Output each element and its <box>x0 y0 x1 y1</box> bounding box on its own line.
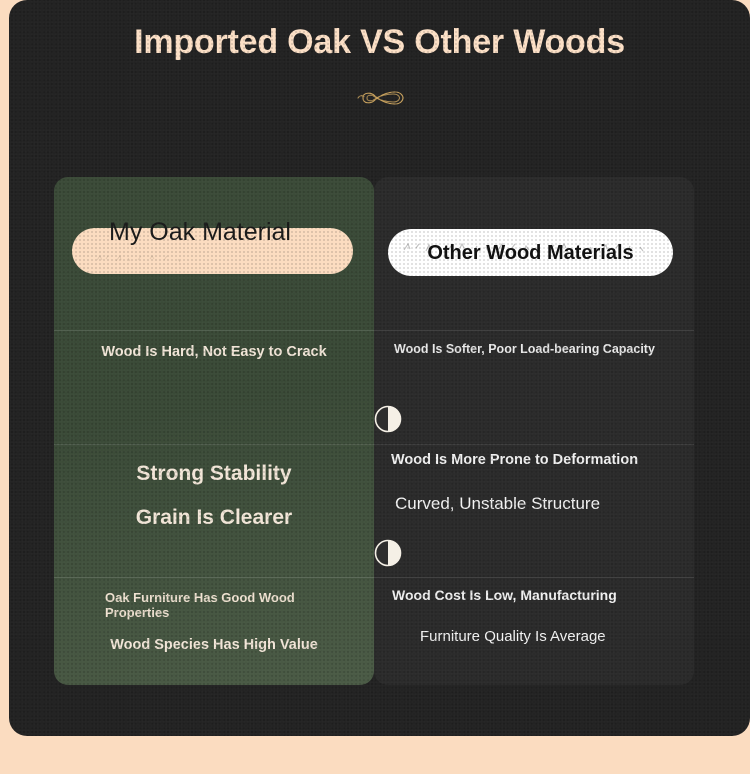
column-my-oak-material[interactable]: My Oak Material Wood Is Hard, Not Easy t… <box>54 177 374 685</box>
left-row-2: Strong Stability Grain Is Clearer <box>54 444 374 577</box>
right-badge-area: Other Wood Materials <box>374 177 694 330</box>
badge-label: My Oak Material <box>109 217 309 248</box>
half-moon-contrast-icon <box>374 405 402 433</box>
page-title: Imported Oak VS Other Woods <box>9 0 750 63</box>
right-row-2-primary: Wood Is More Prone to Deformation <box>391 453 680 469</box>
right-row-1-primary: Wood Is Softer, Poor Load-bearing Capaci… <box>394 342 680 357</box>
left-row-3-secondary: Wood Species Has High Value <box>54 636 374 655</box>
right-row-2-secondary: Curved, Unstable Structure <box>395 493 680 514</box>
left-row-3-primary: Oak Furniture Has Good Wood Properties <box>105 590 360 621</box>
page-root: Imported Oak VS Other Woods <box>0 0 750 774</box>
column-other-wood-materials[interactable]: Other Wood Materials Wood Is Softer, Poo… <box>374 177 694 685</box>
infinity-knot-ornament-icon <box>353 63 407 111</box>
left-row-1: Wood Is Hard, Not Easy to Crack <box>54 330 374 444</box>
left-row-2-secondary: Grain Is Clearer <box>54 504 374 531</box>
right-row-3: Wood Cost Is Low, Manufacturing Furnitur… <box>374 577 694 685</box>
left-row-3: Oak Furniture Has Good Wood Properties W… <box>54 577 374 685</box>
dark-panel: Imported Oak VS Other Woods <box>9 0 750 736</box>
ghost-strokes-icon <box>94 252 224 264</box>
left-row-2-primary: Strong Stability <box>54 460 374 487</box>
right-row-1: Wood Is Softer, Poor Load-bearing Capaci… <box>374 330 694 444</box>
badge-label: Other Wood Materials <box>427 241 633 265</box>
left-badge-area: My Oak Material <box>54 177 374 330</box>
left-row-1-primary: Wood Is Hard, Not Easy to Crack <box>54 343 374 363</box>
badge-my-oak-material[interactable]: My Oak Material <box>72 228 353 274</box>
badge-other-wood-materials[interactable]: Other Wood Materials <box>388 229 673 276</box>
right-row-3-primary: Wood Cost Is Low, Manufacturing <box>392 587 680 603</box>
right-row-3-secondary: Furniture Quality Is Average <box>420 628 680 646</box>
header: Imported Oak VS Other Woods <box>9 0 750 111</box>
half-moon-contrast-icon <box>374 539 402 567</box>
right-row-2: Wood Is More Prone to Deformation Curved… <box>374 444 694 577</box>
